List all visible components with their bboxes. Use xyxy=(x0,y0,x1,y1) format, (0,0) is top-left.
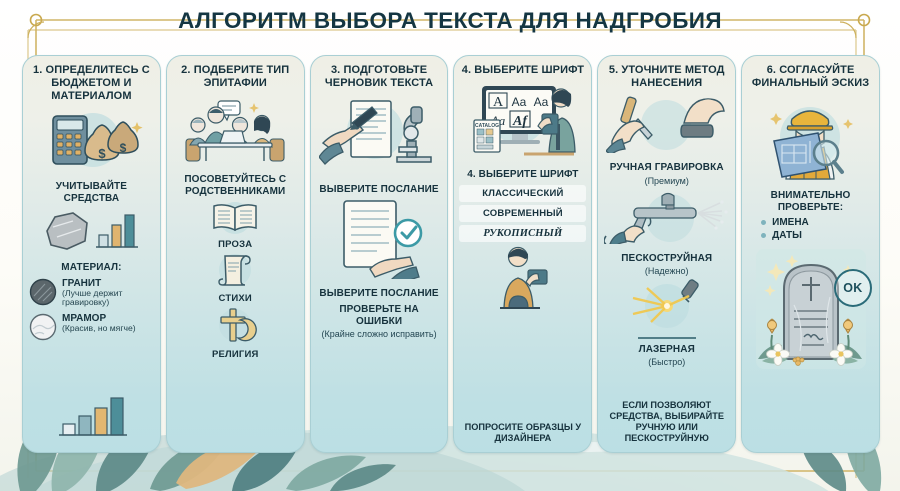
material-row-granite: ГРАНИТ (Лучше держит гравировку) xyxy=(29,278,156,311)
step-3-caption-3: ПРОВЕРЬТЕ НА ОШИБКИ xyxy=(316,304,443,327)
step-3-note: (Крайне сложно исправить) xyxy=(322,329,437,339)
step-3-caption-2: ВЫВЕРИТЕ ПОСЛАНИЕ xyxy=(319,288,438,300)
cross-crescent-icon xyxy=(212,306,258,349)
epitaph-label-proza: ПРОЗА xyxy=(218,239,252,250)
designer-monitor-fonts-icon: A Aa Aa Aa Af CATALOG xyxy=(460,82,586,165)
ok-badge: OK xyxy=(834,269,872,307)
document-checkmark-hand-icon xyxy=(324,199,434,284)
svg-text:Af: Af xyxy=(512,114,528,129)
step-column-3[interactable]: 3. ПОДГОТОВЬТЕ ЧЕРНОВИК ТЕКСТА xyxy=(310,55,449,453)
material-note-marble: (Красив, но мягче) xyxy=(62,324,136,333)
calculator-money-bags-icon: $ $ xyxy=(37,108,145,177)
font-sample-list: КЛАССИЧЕСКИЙ СОВРЕМЕННЫЙ РУКОПИСНЫЙ xyxy=(459,185,586,242)
hand-chisel-engraving-icon xyxy=(606,95,728,158)
scroll-icon xyxy=(212,252,258,293)
steps-container: 1. ОПРЕДЕЛИТЕСЬ С БЮДЖЕТОМ И МАТЕРИАЛОМ … xyxy=(22,55,880,453)
epitaph-type-stihi[interactable]: СТИХИ xyxy=(212,252,258,304)
font-option-classic[interactable]: КЛАССИЧЕСКИЙ xyxy=(459,185,586,202)
sandblaster-gun-icon xyxy=(604,188,730,249)
step-4-caption: 4. ВЫБЕРИТЕ ШРИФТ xyxy=(467,169,578,181)
svg-text:Aa: Aa xyxy=(512,95,527,109)
step-4-heading: 4. ВЫБЕРИТЕ ШРИФТ xyxy=(462,64,584,77)
method-note-laser: (Быстро) xyxy=(648,357,685,367)
step-3-heading: 3. ПОДГОТОВЬТЕ ЧЕРНОВИК ТЕКСТА xyxy=(316,64,443,90)
step-4-footer: ПОПРОСИТЕ ОБРАЗЦЫ У ДИЗАЙНЕРА xyxy=(459,422,586,446)
method-name-sandblast: ПЕСКОСТРУЙНАЯ xyxy=(621,253,712,265)
hand-writing-microscope-icon xyxy=(319,95,439,180)
marble-circle-icon xyxy=(29,313,57,346)
bullet-dot-icon xyxy=(761,233,766,238)
checklist-item-dates: ДАТЫ xyxy=(761,230,802,241)
step-1-heading: 1. ОПРЕДЕЛИТЕСЬ С БЮДЖЕТОМ И МАТЕРИАЛОМ xyxy=(28,64,155,103)
infographic-poster: АЛГОРИТМ ВЫБОРА ТЕКСТА ДЛЯ НАДГРОБИЯ 1. … xyxy=(0,0,900,491)
stone-barchart-icon xyxy=(39,207,143,258)
epitaph-label-stihi: СТИХИ xyxy=(219,293,252,304)
step-column-4[interactable]: 4. ВЫБЕРИТЕ ШРИФТ A Aa Aa Aa Af xyxy=(453,55,592,453)
step-6-heading: 6. СОГЛАСУЙТЕ ФИНАЛЬНЫЙ ЭСКИЗ xyxy=(747,64,874,90)
font-option-cursive[interactable]: РУКОПИСНЫЙ xyxy=(459,225,586,242)
svg-text:CATALOG: CATALOG xyxy=(475,123,499,129)
man-with-tablet-icon xyxy=(488,244,558,315)
step-6-caption: ВНИМАТЕЛЬНО ПРОВЕРЬТЕ: xyxy=(747,190,874,213)
method-note-sandblast: (Надежно) xyxy=(645,266,689,276)
checklist-item-names: ИМЕНА xyxy=(761,217,809,228)
epitaph-type-proza[interactable]: ПРОЗА xyxy=(210,200,260,250)
material-row-marble: МРАМОР (Красив, но мягче) xyxy=(29,313,156,346)
method-note-hand: (Премиум) xyxy=(645,176,689,186)
svg-text:$: $ xyxy=(99,146,107,161)
barchart-bottom-icon xyxy=(53,394,129,445)
step-5-heading: 5. УТОЧНИТЕ МЕТОД НАНЕСЕНИЯ xyxy=(603,64,730,90)
step-column-2[interactable]: 2. ПОДБЕРИТЕ ТИП ЭПИТАФИИ xyxy=(166,55,305,453)
page-title: АЛГОРИТМ ВЫБОРА ТЕКСТА ДЛЯ НАДГРОБИЯ xyxy=(0,8,900,34)
step-column-1[interactable]: 1. ОПРЕДЕЛИТЕСЬ С БЮДЖЕТОМ И МАТЕРИАЛОМ … xyxy=(22,55,161,453)
font-option-modern[interactable]: СОВРЕМЕННЫЙ xyxy=(459,205,586,222)
step-1-caption: УЧИТЫВАЙТЕ СРЕДСТВА xyxy=(28,181,155,204)
epitaph-type-religion[interactable]: РЕЛИГИЯ xyxy=(212,306,259,360)
step-column-5[interactable]: 5. УТОЧНИТЕ МЕТОД НАНЕСЕНИЯ РУЧНАЯ ГРАВИ… xyxy=(597,55,736,453)
step-2-caption: ПОСОВЕТУЙТЕСЬ С РОДСТВЕННИКАМИ xyxy=(172,174,299,197)
step-column-6[interactable]: 6. СОГЛАСУЙТЕ ФИНАЛЬНЫЙ ЭСКИЗ xyxy=(741,55,880,453)
bullet-dot-icon xyxy=(761,220,766,225)
open-book-icon xyxy=(210,200,260,239)
granite-circle-icon xyxy=(29,278,57,311)
tombstone-flowers-icon xyxy=(748,247,874,376)
svg-text:Aa: Aa xyxy=(534,95,549,109)
svg-text:$: $ xyxy=(120,141,127,155)
step-3-caption: ВЫВЕРИТЕ ПОСЛАНИЕ xyxy=(319,184,438,196)
material-section-label: МАТЕРИАЛ: xyxy=(61,262,121,274)
worker-blueprint-magnifier-icon xyxy=(752,95,870,186)
checklist-label-dates: ДАТЫ xyxy=(772,230,802,241)
family-meeting-table-icon xyxy=(174,95,296,170)
step-2-heading: 2. ПОДБЕРИТЕ ТИП ЭПИТАФИИ xyxy=(172,64,299,90)
epitaph-label-religion: РЕЛИГИЯ xyxy=(212,349,259,360)
divider xyxy=(638,337,696,338)
svg-text:A: A xyxy=(493,95,504,110)
step-5-footer: ЕСЛИ ПОЗВОЛЯЮТ СРЕДСТВА, ВЫБИРАЙТЕ РУЧНУ… xyxy=(603,400,730,446)
checklist-label-names: ИМЕНА xyxy=(772,217,809,228)
method-name-hand: РУЧНАЯ ГРАВИРОВКА xyxy=(610,162,724,174)
laser-beam-icon xyxy=(613,278,721,333)
material-note-granite: (Лучше держит гравировку) xyxy=(62,289,156,308)
method-name-laser: ЛАЗЕРНАЯ xyxy=(639,344,695,356)
